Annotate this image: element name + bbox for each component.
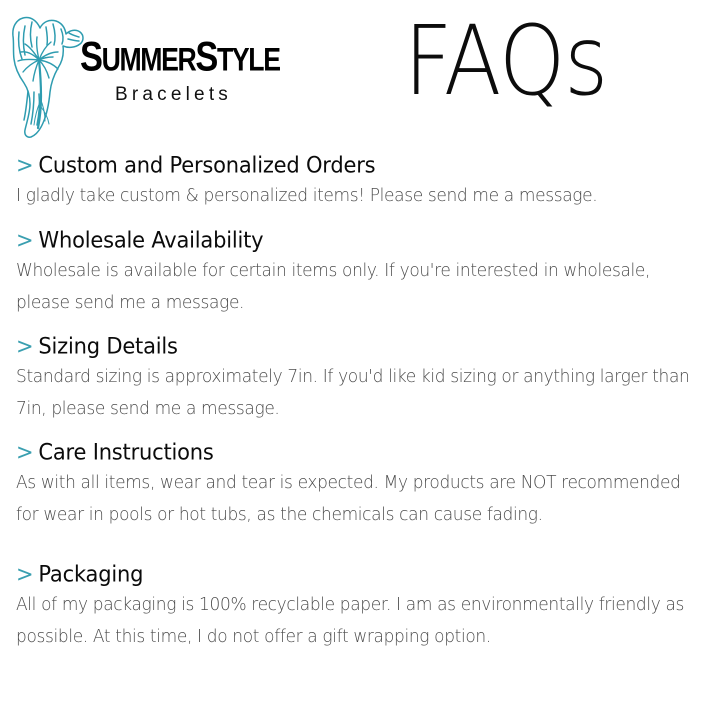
faq-item-custom-and-personalized-orders: >Custom and Personalized Orders I gladly… (16, 150, 704, 211)
page-header: SUMMERSTYLE Bracelets FAQs (0, 0, 720, 148)
faq-body: Standard sizing is approximately 7in. If… (16, 361, 704, 425)
faq-body: I gladly take custom & personalized item… (16, 180, 704, 212)
brand-name-tyle: TYLE (217, 41, 280, 77)
faq-heading-label: Packaging (38, 561, 143, 586)
faq-heading-label: Care Instructions (38, 439, 213, 464)
faq-heading-label: Custom and Personalized Orders (38, 152, 375, 177)
brand-name-s2: S (195, 34, 217, 80)
chevron-right-icon: > (16, 561, 33, 586)
chevron-right-icon: > (16, 333, 33, 358)
faq-heading: >Sizing Details (16, 330, 704, 362)
brand-name-s1: S (80, 34, 102, 80)
faq-item-sizing-details: >Sizing Details Standard sizing is appro… (16, 331, 704, 423)
faq-body: Wholesale is available for certain items… (16, 255, 704, 319)
faq-item-wholesale-availability: >Wholesale Availability Wholesale is ava… (16, 225, 704, 317)
brand-wordmark: SUMMERSTYLE (80, 36, 295, 79)
brand-name: SUMMERSTYLE (80, 36, 265, 81)
brand-name-ummer: UMMER (102, 41, 196, 77)
chevron-right-icon: > (16, 227, 33, 252)
faq-heading: >Care Instructions (16, 436, 704, 468)
faq-heading-label: Sizing Details (38, 333, 177, 358)
faq-list: >Custom and Personalized Orders I gladly… (0, 150, 720, 665)
brand-lockup: SUMMERSTYLE Bracelets (0, 0, 300, 148)
faq-heading-label: Wholesale Availability (38, 227, 263, 252)
faq-item-packaging: >Packaging All of my packaging is 100% r… (16, 559, 704, 651)
chevron-right-icon: > (16, 152, 33, 177)
faq-body: All of my packaging is 100% recyclable p… (16, 589, 704, 653)
faq-heading: >Custom and Personalized Orders (16, 149, 704, 181)
chevron-right-icon: > (16, 439, 33, 464)
faq-heading: >Wholesale Availability (16, 224, 704, 256)
faq-heading: >Packaging (16, 558, 704, 590)
faq-item-care-instructions: >Care Instructions As with all items, we… (16, 437, 704, 529)
faq-page: SUMMERSTYLE Bracelets FAQs >Custom and P… (0, 0, 720, 720)
palm-tree-florida-icon (6, 8, 88, 140)
page-title: FAQs (404, 8, 607, 116)
brand-tagline: Bracelets (115, 84, 232, 106)
faq-body: As with all items, wear and tear is expe… (16, 467, 704, 531)
